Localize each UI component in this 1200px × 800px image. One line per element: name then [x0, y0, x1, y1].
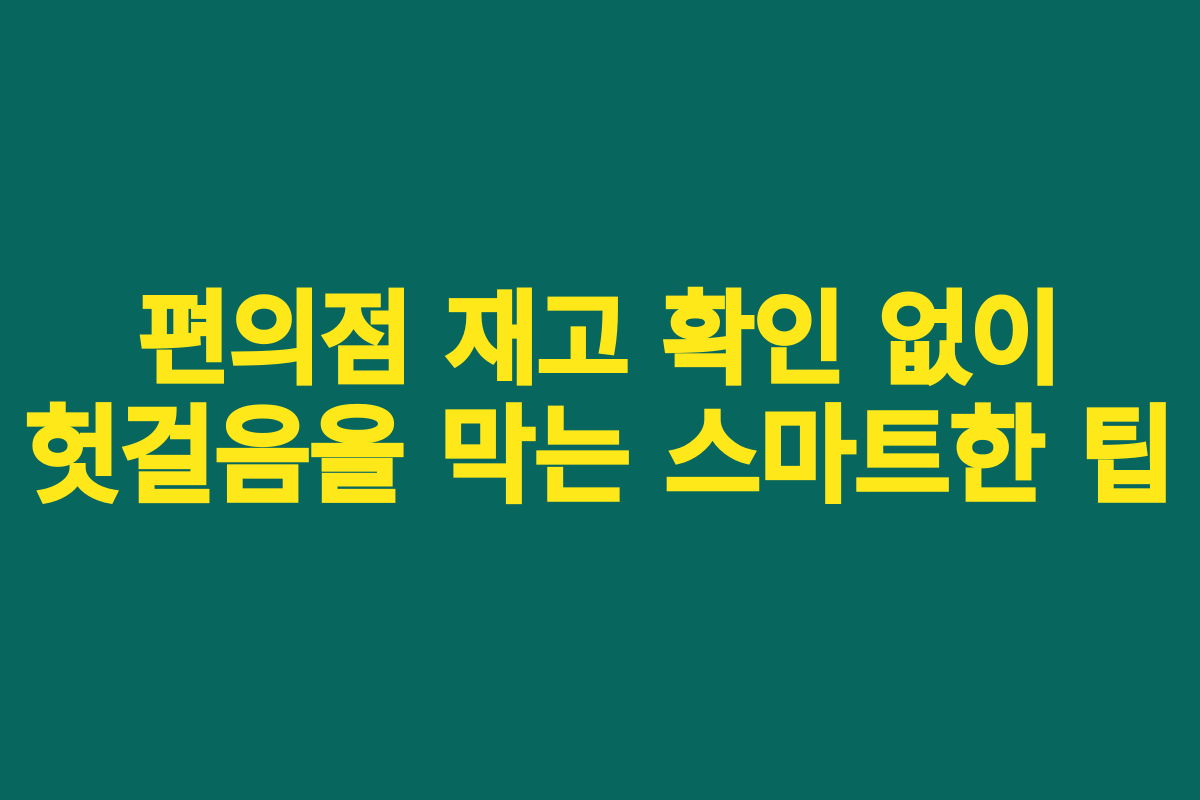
- thumbnail-banner: 편의점 재고 확인 없이 헛걸음을 막는 스마트한 팁: [0, 0, 1200, 800]
- headline-block: 편의점 재고 확인 없이 헛걸음을 막는 스마트한 팁: [0, 283, 1200, 515]
- headline-line-1: 편의점 재고 확인 없이: [16, 283, 1184, 397]
- headline-line-2: 헛걸음을 막는 스마트한 팁: [16, 397, 1184, 515]
